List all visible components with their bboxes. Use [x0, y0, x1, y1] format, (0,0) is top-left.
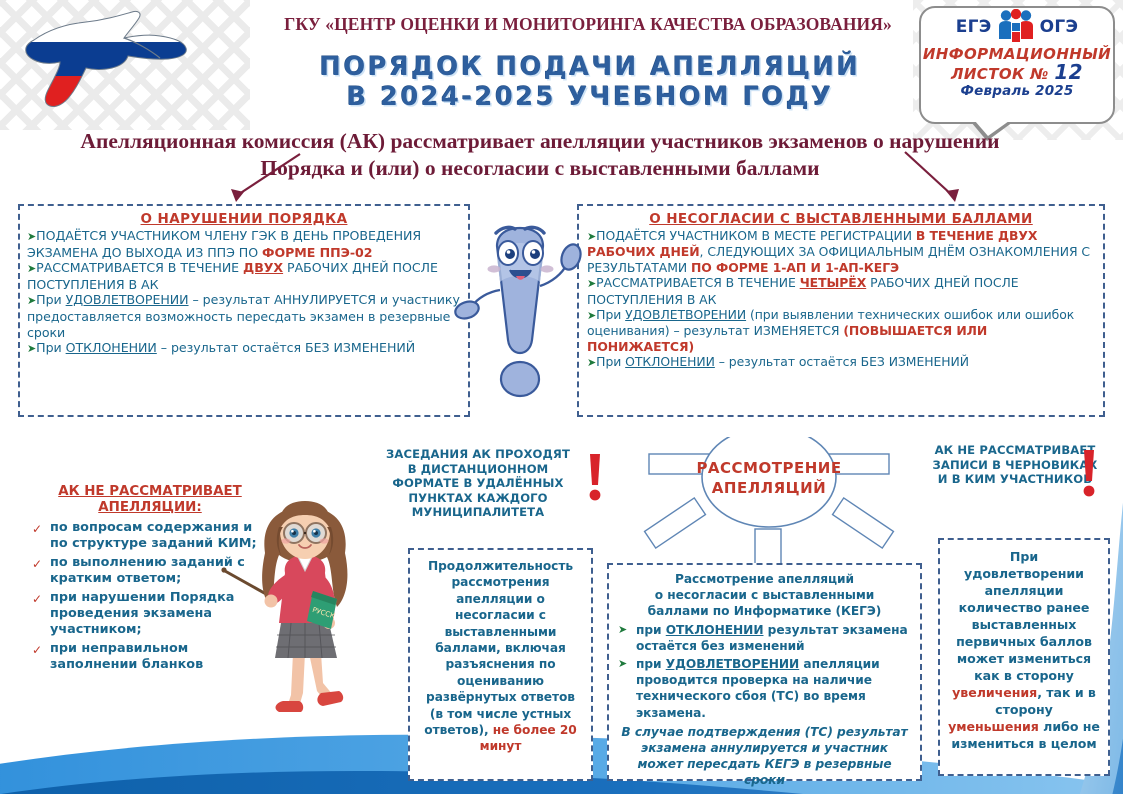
kege-bullet-2-a: при: [636, 657, 666, 671]
kege-bullet-1: ➤при ОТКЛОНЕНИИ результат экзамена остаё…: [618, 622, 911, 654]
appeal-duration-box: Продолжительность рассмотрения апелляции…: [408, 548, 593, 781]
violation-point-3-emph: УДОВЛЕТВОРЕНИИ: [66, 292, 189, 307]
violation-point-2-emph: ДВУХ: [243, 260, 283, 275]
violation-point-3: ➤При УДОВЛЕТВОРЕНИИ – результат АННУЛИРУ…: [27, 292, 461, 340]
badge-line-date: Февраль 2025: [961, 83, 1074, 99]
scores-box-heading: О НЕСОГЛАСИИ С ВЫСТАВЛЕННЫМИ БАЛЛАМИ: [587, 211, 1095, 227]
crimea-flag-map-icon: [8, 6, 193, 111]
satisfied-appeal-box: При удовлетворении апелляции количество …: [938, 538, 1110, 776]
bullet-arrow-icon: ➤: [27, 294, 36, 307]
organization-title: ГКУ «ЦЕНТР ОЦЕНКИ И МОНИТОРИНГА КАЧЕСТВА…: [228, 14, 948, 35]
badge-sheet-prefix: ЛИСТОК №: [951, 65, 1054, 83]
no-drafts-note: АК НЕ РАССМАТРИВАЕТ ЗАПИСИ В ЧЕРНОВИКАХ …: [930, 443, 1100, 487]
check-icon: ✓: [32, 642, 42, 658]
scores-point-4-b: – результат остаётся БЕЗ ИЗМЕНЕНИЙ: [715, 354, 969, 369]
appeal-review-sunburst: РАССМОТРЕНИЕ АПЕЛЛЯЦИЙ: [619, 437, 919, 567]
violation-point-4: ➤При ОТКЛОНЕНИИ – результат остаётся БЕЗ…: [27, 340, 461, 357]
scores-point-4-a: При: [596, 354, 625, 369]
red-exclamation-icon: [584, 452, 606, 502]
page-title-line1: ПОРЯДОК ПОДАЧИ АПЕЛЛЯЦИЙ: [250, 52, 930, 82]
info-sheet-badge: ЕГЭ ОГЭ ИНФОРМАЦИОННЫЙ ЛИСТОК № 12 Февра…: [919, 6, 1115, 124]
kege-head-line2: о несогласии с выставленными: [618, 587, 911, 603]
oge-label: ОГЭ: [1040, 17, 1079, 37]
oval-line-1: РАССМОТРЕНИЕ: [696, 459, 841, 477]
list-item-label: при неправильном заполнении бланков: [50, 641, 203, 672]
violation-info-box: О НАРУШЕНИИ ПОРЯДКА ➤ПОДАЁТСЯ УЧАСТНИКОМ…: [18, 204, 470, 417]
violation-box-heading: О НАРУШЕНИИ ПОРЯДКА: [27, 211, 461, 227]
red-exclamation-icon: [1078, 448, 1100, 498]
duration-text-emph: не более 20 минут: [480, 723, 577, 753]
satisfied-emph-increase: увеличения: [952, 685, 1037, 700]
bullet-arrow-icon: ➤: [587, 309, 596, 322]
scores-point-4: ➤При ОТКЛОНЕНИИ – результат остаётся БЕЗ…: [587, 354, 1095, 370]
violation-point-4-emph: ОТКЛОНЕНИИ: [66, 340, 157, 355]
bullet-arrow-icon: ➤: [618, 656, 627, 672]
poster-root: ГКУ «ЦЕНТР ОЦЕНКИ И МОНИТОРИНГА КАЧЕСТВА…: [0, 0, 1123, 794]
check-icon: ✓: [32, 521, 42, 537]
kege-head-line1: Рассмотрение апелляций: [618, 571, 911, 587]
bullet-arrow-icon: ➤: [27, 342, 36, 355]
kege-bullet-2: ➤при УДОВЛЕТВОРЕНИИ апелляции проводится…: [618, 656, 911, 721]
scores-point-2: ➤РАССМАТРИВАЕТСЯ В ТЕЧЕНИЕ ЧЕТЫРЁХ РАБОЧ…: [587, 275, 1095, 307]
kege-appeal-box: Рассмотрение апелляций о несогласии с вы…: [607, 563, 922, 781]
bullet-arrow-icon: ➤: [587, 277, 596, 290]
violation-point-1: ➤ПОДАЁТСЯ УЧАСТНИКОМ ЧЛЕНУ ГЭК В ДЕНЬ ПР…: [27, 228, 461, 260]
satisfied-text: При удовлетворении апелляции количество …: [948, 548, 1100, 752]
dot-pattern-top-left: [0, 0, 250, 130]
scores-point-3-emph: УДОВЛЕТВОРЕНИИ: [625, 307, 746, 322]
duration-text: Продолжительность рассмотрения апелляции…: [419, 558, 582, 755]
kege-head-line3: баллами по Информатике (КЕГЭ): [618, 603, 911, 619]
badge-sheet-number: 12: [1054, 60, 1083, 84]
bullet-arrow-icon: ➤: [587, 356, 596, 369]
ege-label: ЕГЭ: [956, 17, 992, 37]
badge-line-sheet-number: ЛИСТОК № 12: [951, 63, 1083, 83]
violation-point-3-text-a: При: [36, 292, 65, 307]
kege-bullet-2-emph: УДОВЛЕТВОРЕНИИ: [666, 657, 799, 671]
scores-point-1: ➤ПОДАЁТСЯ УЧАСТНИКОМ В МЕСТЕ РЕГИСТРАЦИИ…: [587, 228, 1095, 275]
score-disagreement-info-box: О НЕСОГЛАСИИ С ВЫСТАВЛЕННЫМИ БАЛЛАМИ ➤ПО…: [577, 204, 1105, 417]
page-title: ПОРЯДОК ПОДАЧИ АПЕЛЛЯЦИЙ В 2024-2025 УЧЕ…: [250, 52, 930, 112]
scores-point-1-emph2: ПО ФОРМЕ 1-АП И 1-АП-КЕГЭ: [691, 260, 899, 275]
scores-point-2-emph: ЧЕТЫРЁХ: [800, 275, 867, 290]
kege-bullet-1-emph: ОТКЛОНЕНИИ: [666, 623, 764, 637]
oval-line-2: АПЕЛЛЯЦИЙ: [712, 478, 826, 497]
bullet-arrow-icon: ➤: [618, 622, 627, 638]
ege-oge-emblem-icon: [993, 9, 1039, 45]
kege-bullet-1-a: при: [636, 623, 666, 637]
duration-text-a: Продолжительность рассмотрения апелляции…: [424, 559, 575, 737]
violation-point-2-text-a: РАССМАТРИВАЕТСЯ В ТЕЧЕНИЕ: [36, 260, 243, 275]
violation-point-4-text-b: – результат остаётся БЕЗ ИЗМЕНЕНИЙ: [157, 340, 415, 355]
violation-point-2: ➤РАССМАТРИВАЕТСЯ В ТЕЧЕНИЕ ДВУХ РАБОЧИХ …: [27, 260, 461, 292]
bullet-arrow-icon: ➤: [27, 230, 36, 243]
exclamation-mascot-icon: [452, 212, 588, 412]
satisfied-text-a: При удовлетворении апелляции количество …: [956, 549, 1092, 683]
scores-point-4-emph: ОТКЛОНЕНИИ: [625, 354, 715, 369]
violation-point-4-text-a: При: [36, 340, 65, 355]
schoolgirl-pointer-icon: РУССК: [213, 495, 398, 720]
subtitle-connector-arrows: [0, 150, 1123, 210]
scores-point-1-a: ПОДАЁТСЯ УЧАСТНИКОМ В МЕСТЕ РЕГИСТРАЦИИ: [596, 228, 916, 243]
check-icon: ✓: [32, 591, 42, 607]
scores-point-2-a: РАССМАТРИВАЕТСЯ В ТЕЧЕНИЕ: [596, 275, 800, 290]
satisfied-emph-decrease: уменьшения: [948, 719, 1039, 734]
violation-point-1-emph: ФОРМЕ ППЭ-02: [262, 245, 372, 260]
check-icon: ✓: [32, 556, 42, 572]
page-title-line2: В 2024-2025 УЧЕБНОМ ГОДУ: [250, 82, 930, 112]
bullet-arrow-icon: ➤: [587, 230, 596, 243]
list-item-label: при нарушении Порядка проведения экзамен…: [50, 590, 234, 638]
remote-sessions-note: ЗАСЕДАНИЯ АК ПРОХОДЯТ В ДИСТАНЦИОННОМ ФО…: [383, 447, 573, 520]
scores-point-3-a: При: [596, 307, 625, 322]
bullet-arrow-icon: ➤: [27, 262, 36, 275]
ege-oge-logo: ЕГЭ ОГЭ: [956, 9, 1079, 45]
kege-italic-note: В случае подтверждения (ТС) результат эк…: [618, 724, 911, 789]
scores-point-3: ➤При УДОВЛЕТВОРЕНИИ (при выявлении техни…: [587, 307, 1095, 354]
